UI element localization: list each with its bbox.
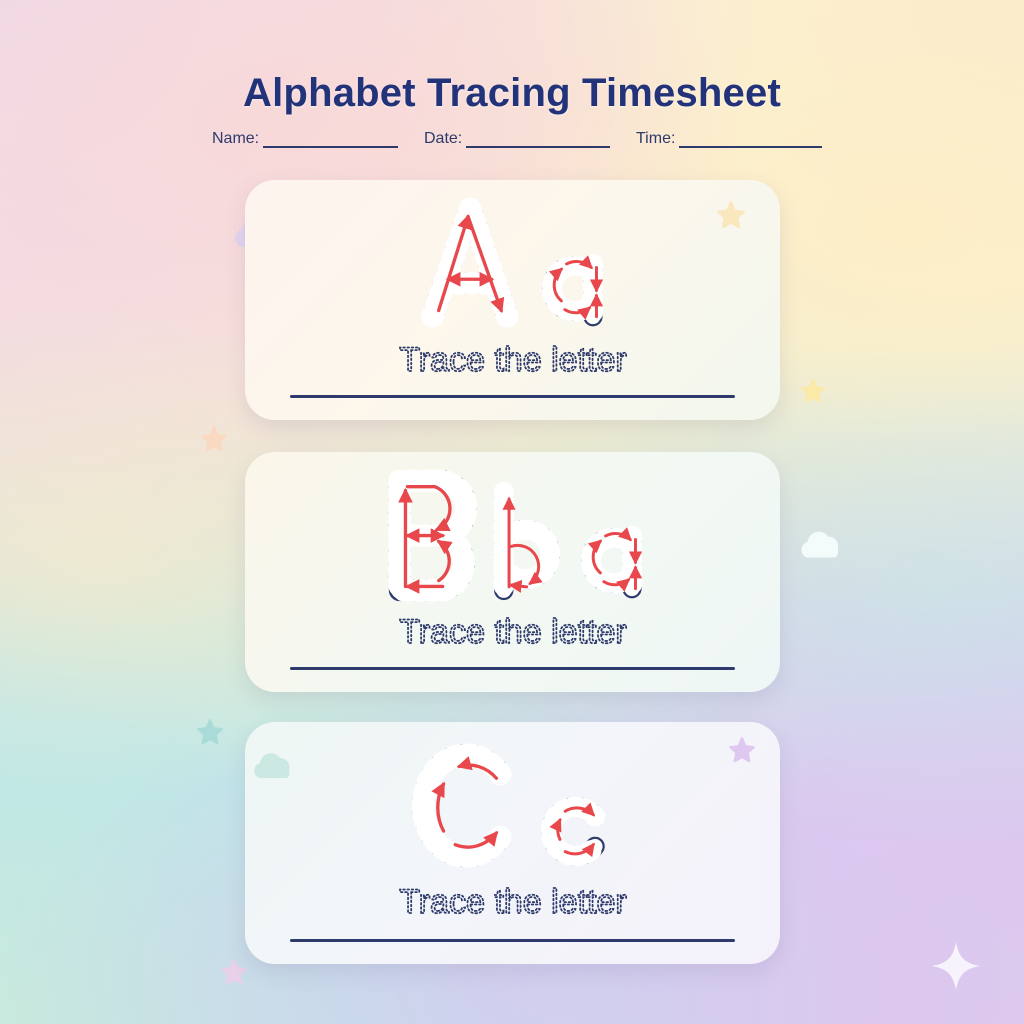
star-peach-icon bbox=[200, 425, 228, 453]
letter-glyph-a bbox=[533, 213, 609, 336]
star-yellow-icon bbox=[800, 378, 826, 404]
tracing-glyph-row bbox=[245, 468, 780, 608]
worksheet-page: Alphabet Tracing Timesheet Name: Date: T… bbox=[0, 0, 1024, 1024]
meta-blank-date[interactable] bbox=[466, 130, 610, 148]
practice-line[interactable] bbox=[290, 395, 735, 398]
letter-glyph-c bbox=[530, 755, 611, 878]
tracing-card[interactable]: Trace the letter bbox=[245, 180, 780, 420]
practice-line[interactable] bbox=[290, 667, 735, 670]
star-teal-icon bbox=[196, 718, 224, 746]
trace-caption-text: Trace the letter bbox=[303, 338, 723, 382]
tracing-glyph-row bbox=[245, 196, 780, 336]
svg-text:Trace the letter: Trace the letter bbox=[399, 613, 626, 651]
meta-fields-row: Name: Date: Time: bbox=[212, 130, 822, 148]
trace-caption: Trace the letter bbox=[245, 610, 780, 654]
meta-label-date: Date: bbox=[424, 130, 462, 148]
meta-field-time: Time: bbox=[636, 130, 822, 148]
meta-field-name: Name: bbox=[212, 130, 398, 148]
svg-text:Trace the letter: Trace the letter bbox=[399, 341, 626, 379]
trace-caption: Trace the letter bbox=[245, 338, 780, 382]
decoration-sparkle-white bbox=[930, 940, 982, 992]
letter-glyph-b bbox=[486, 485, 562, 608]
cloud-white-icon bbox=[795, 520, 847, 572]
meta-label-time: Time: bbox=[636, 130, 675, 148]
sparkle-white-icon bbox=[930, 940, 982, 992]
meta-label-name: Name: bbox=[212, 130, 259, 148]
decoration-star-teal bbox=[196, 718, 224, 746]
decoration-star-peach bbox=[200, 425, 228, 453]
trace-caption-text: Trace the letter bbox=[303, 880, 723, 924]
page-title: Alphabet Tracing Timesheet bbox=[0, 71, 1024, 116]
letter-glyph-A bbox=[417, 199, 523, 336]
letter-glyph-B bbox=[378, 471, 476, 608]
decoration-star-yellow bbox=[800, 378, 826, 404]
tracing-glyph-row bbox=[245, 738, 780, 878]
meta-blank-name[interactable] bbox=[263, 130, 398, 148]
stroke-direction-arrows bbox=[405, 487, 449, 587]
meta-field-date: Date: bbox=[424, 130, 610, 148]
tracing-card[interactable]: Trace the letter bbox=[245, 722, 780, 964]
practice-line[interactable] bbox=[290, 939, 735, 942]
tracing-card[interactable]: Trace the letter bbox=[245, 452, 780, 692]
trace-caption: Trace the letter bbox=[245, 880, 780, 924]
decoration-star-pink bbox=[220, 958, 248, 986]
letter-glyph-C bbox=[414, 741, 520, 878]
stroke-direction-arrows bbox=[438, 765, 497, 847]
trace-caption-text: Trace the letter bbox=[303, 610, 723, 654]
star-pink-icon bbox=[220, 958, 248, 986]
meta-blank-time[interactable] bbox=[679, 130, 822, 148]
letter-glyph-a bbox=[572, 485, 648, 608]
svg-text:Trace the letter: Trace the letter bbox=[399, 883, 626, 921]
decoration-cloud-white bbox=[795, 520, 847, 572]
